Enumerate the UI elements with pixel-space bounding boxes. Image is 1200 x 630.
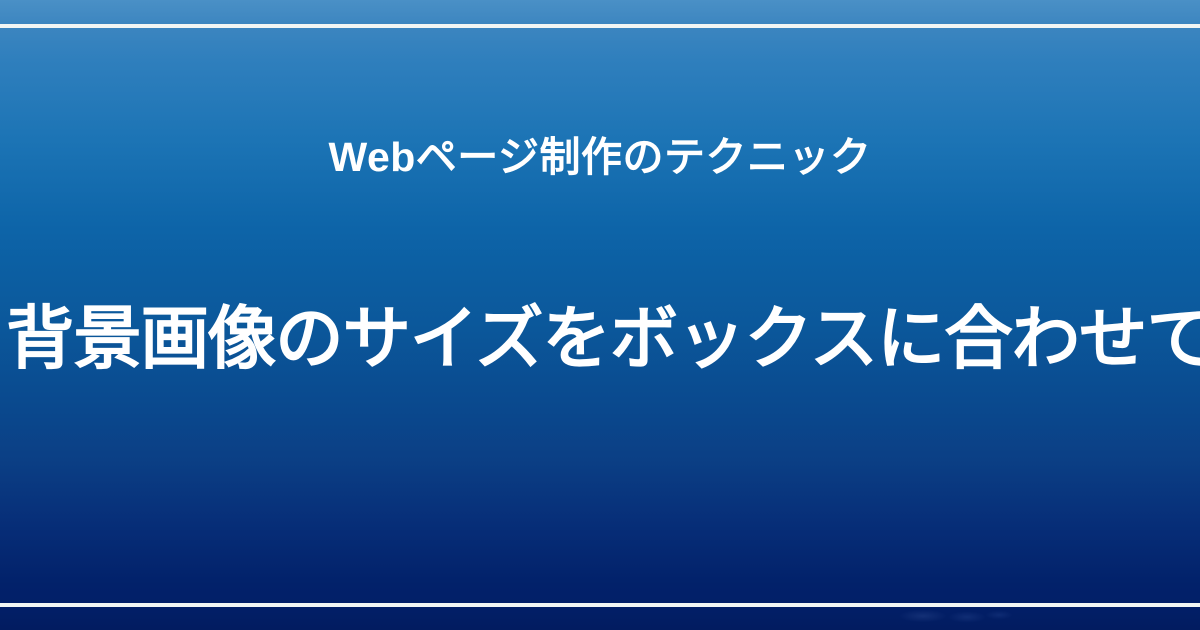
banner-title: 背景画像のサイズをボックスに合わせて変化させたい (6, 296, 1194, 382)
bottom-divider-rule (0, 603, 1200, 607)
top-divider-rule (0, 24, 1200, 28)
ogp-banner: Webページ制作のテクニック 背景画像のサイズをボックスに合わせて変化させたい (0, 0, 1200, 630)
banner-subtitle: Webページ制作のテクニック (0, 127, 1200, 187)
background-texture-artifact (895, 607, 1015, 627)
